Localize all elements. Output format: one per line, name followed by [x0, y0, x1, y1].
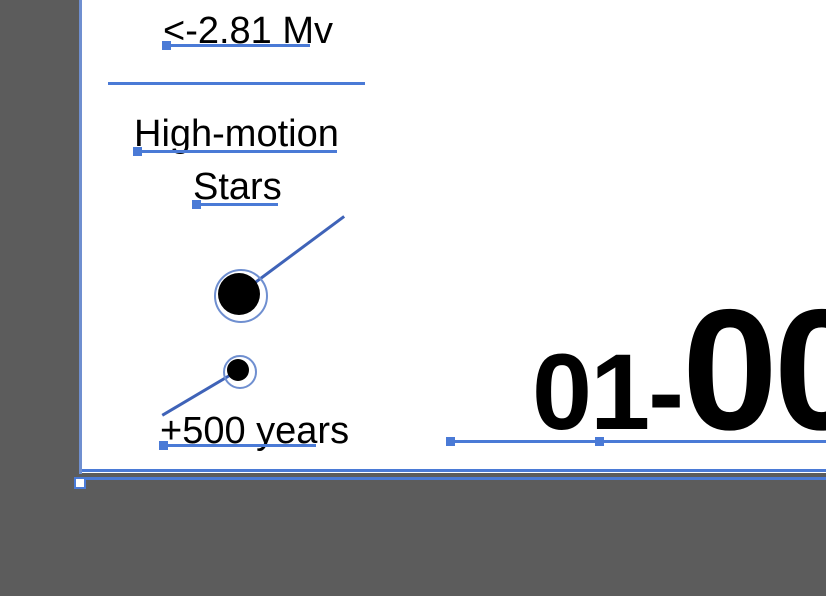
category-title-line2[interactable]: Stars	[193, 168, 282, 206]
designation-handle-left[interactable]	[446, 437, 455, 446]
designation-baseline[interactable]	[448, 440, 826, 443]
designation-number: 000	[682, 274, 826, 466]
left-guide[interactable]	[79, 0, 82, 474]
category-title-line2-handle[interactable]	[192, 200, 201, 209]
magnitude-label-baseline[interactable]	[164, 44, 310, 47]
large-star-marker[interactable]	[214, 269, 264, 319]
bottom-guide-upper[interactable]	[82, 469, 826, 472]
category-title-line1[interactable]: High-motion	[134, 115, 339, 153]
slide-editor-workspace: <-2.81 Mv High-motion Stars +500 years	[0, 0, 826, 596]
corner-resize-handle[interactable]	[74, 477, 86, 489]
category-title-line2-baseline[interactable]	[194, 203, 278, 206]
slide-canvas[interactable]: <-2.81 Mv High-motion Stars +500 years	[82, 0, 826, 473]
magnitude-label-handle[interactable]	[162, 41, 171, 50]
designation-prefix: 01-	[532, 331, 682, 452]
divider-rule[interactable]	[108, 82, 365, 85]
small-star-dot	[227, 359, 249, 381]
time-span-label-handle[interactable]	[159, 441, 168, 450]
category-title-line1-baseline[interactable]	[135, 150, 337, 153]
category-title-line1-handle[interactable]	[133, 147, 142, 156]
bottom-guide-lower[interactable]	[76, 477, 826, 480]
large-star-dot	[218, 273, 260, 315]
designation-text[interactable]: 01-000	[532, 284, 826, 456]
time-span-label-baseline[interactable]	[161, 444, 316, 447]
small-star-marker[interactable]	[223, 355, 253, 385]
designation-handle-mid[interactable]	[595, 437, 604, 446]
